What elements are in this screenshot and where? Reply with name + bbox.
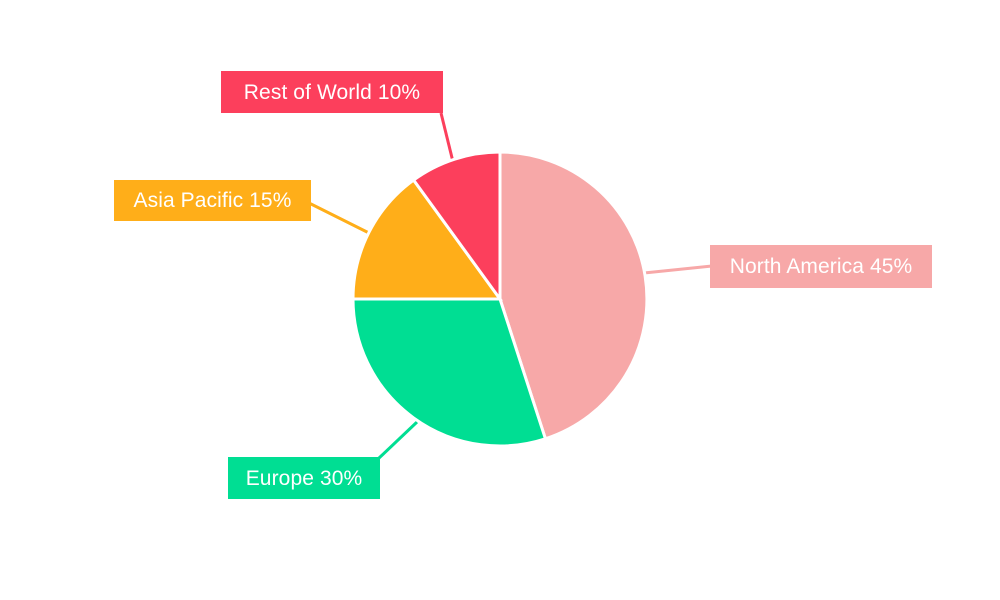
chart-canvas: North America 45% Europe 30% Asia Pacifi… bbox=[0, 0, 1000, 600]
pie-label-north-america[interactable]: North America 45% bbox=[710, 245, 932, 288]
leader-line-asia-pacific bbox=[309, 203, 369, 233]
pie-label-asia-pacific-text: Asia Pacific 15% bbox=[133, 190, 291, 211]
pie-label-europe[interactable]: Europe 30% bbox=[228, 457, 380, 499]
pie-chart-svg bbox=[0, 0, 1000, 600]
pie-label-rest-of-world[interactable]: Rest of World 10% bbox=[221, 71, 443, 113]
leader-line-north-america bbox=[644, 266, 712, 273]
pie-label-asia-pacific[interactable]: Asia Pacific 15% bbox=[114, 180, 311, 221]
leader-line-europe bbox=[378, 422, 417, 459]
pie-label-north-america-text: North America 45% bbox=[730, 256, 913, 277]
pie-label-europe-text: Europe 30% bbox=[246, 468, 363, 489]
pie-label-rest-of-world-text: Rest of World 10% bbox=[244, 82, 420, 103]
pie-slices bbox=[353, 152, 647, 446]
